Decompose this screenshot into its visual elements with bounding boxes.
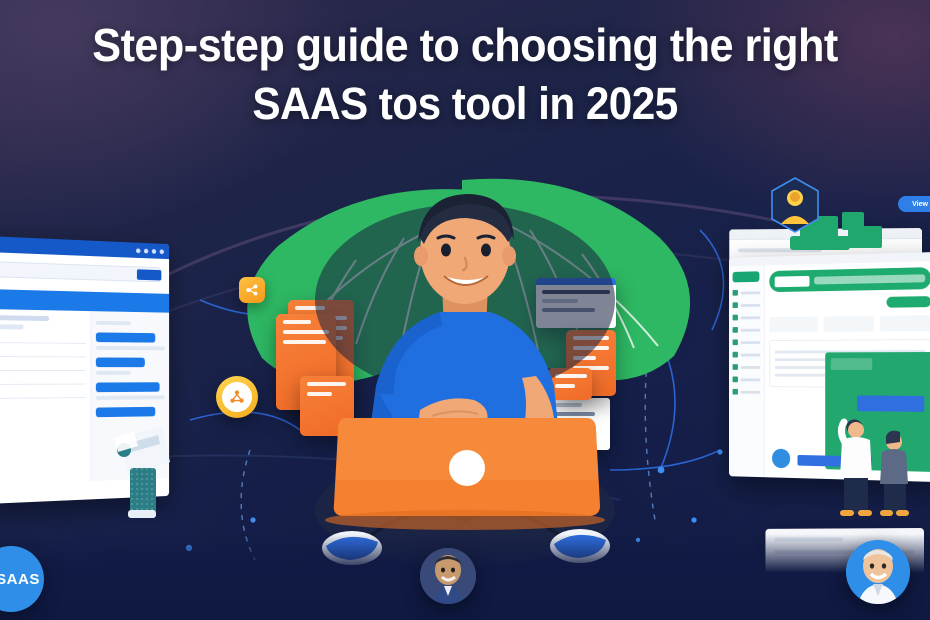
sidebar-icon [733, 290, 738, 296]
sidebar-item[interactable] [733, 377, 761, 383]
sidebar-icon [733, 352, 738, 358]
sidebar-label [741, 378, 761, 381]
table-row [0, 384, 86, 385]
chat-label [96, 321, 131, 325]
sidebar-label [741, 366, 761, 369]
chat-message [96, 332, 155, 342]
avatar-bottom-right[interactable] [846, 540, 910, 604]
chat-message [96, 357, 145, 367]
banner-cta-button[interactable] [887, 296, 930, 308]
table-row [0, 342, 86, 344]
chat-label [96, 371, 131, 375]
promo-banner [769, 267, 930, 292]
avatar-bottom-center[interactable] [420, 548, 476, 604]
sidebar-icon [733, 364, 738, 370]
sidebar-label [741, 316, 761, 319]
sidebar-label [741, 341, 761, 344]
mini-green-bar [790, 236, 850, 250]
table-row [0, 356, 86, 357]
sidebar-icon [733, 377, 738, 383]
green-panel-header [831, 358, 872, 370]
person-right [880, 431, 909, 516]
chat-message [96, 382, 160, 392]
left-dashboard-table [0, 309, 91, 485]
stat-row [769, 315, 930, 332]
right-standing-people [824, 400, 920, 518]
floating-action-button[interactable] [772, 449, 790, 469]
window-dot-icon [160, 249, 164, 254]
window-dot-icon [136, 248, 140, 253]
banner-tag [775, 275, 810, 286]
sidebar-item[interactable] [733, 352, 761, 358]
share-badge-icon[interactable] [239, 277, 265, 303]
table-header-chip [0, 324, 24, 329]
stat-cell [769, 316, 818, 332]
avatar-right-photo [846, 540, 910, 604]
avatar-center-photo [420, 548, 476, 604]
laptop-logo-icon [449, 450, 485, 486]
seated-person-with-laptop [300, 180, 630, 580]
illustration-canvas: Step-step guide to choosing the right SA… [0, 0, 930, 620]
table-header-chip [0, 315, 49, 321]
headline-line-1: Step-step guide to choosing the right [28, 16, 902, 75]
sidebar-label [741, 291, 761, 294]
window-dot-icon [144, 248, 148, 253]
sidebar-label [741, 303, 761, 306]
sidebar-item[interactable] [733, 314, 761, 320]
sidebar-icon [733, 327, 738, 333]
sidebar-item[interactable] [733, 364, 761, 370]
left-standing-figure [100, 392, 182, 522]
sidebar-item[interactable] [733, 389, 761, 395]
stat-cell [824, 316, 874, 332]
sidebar-icon [733, 315, 738, 321]
sidebar-label [741, 390, 761, 393]
person-left [840, 419, 872, 516]
sidebar-item[interactable] [733, 339, 761, 345]
share-glyph-icon [245, 283, 259, 297]
right-dashboard-sidebar[interactable] [729, 265, 765, 477]
view-pill-label: View [912, 201, 928, 208]
view-pill-button[interactable]: View [898, 196, 930, 212]
banner-text [814, 274, 925, 284]
sidebar-item[interactable] [733, 327, 761, 333]
sidebar-item[interactable] [733, 302, 761, 308]
table-row [0, 370, 86, 371]
app-logo [733, 271, 760, 282]
sidebar-label [741, 353, 761, 356]
sidebar-item[interactable] [733, 289, 761, 295]
saas-badge-label: SAAS [0, 571, 40, 588]
sidebar-icon [733, 389, 738, 395]
sidebar-label [741, 328, 761, 331]
chat-label [96, 346, 165, 350]
sidebar-icon [733, 339, 738, 345]
table-row [0, 397, 86, 399]
stat-cell [880, 315, 930, 331]
gold-hex-profile-badge[interactable] [768, 176, 822, 234]
headline: Step-step guide to choosing the right SA… [0, 16, 930, 132]
sidebar-icon [733, 302, 738, 308]
left-dashboard-action-button[interactable] [137, 269, 161, 280]
headline-line-2: SAAS tos tool in 2025 [28, 75, 902, 133]
mini-green-card [848, 226, 882, 248]
window-dot-icon [152, 249, 156, 254]
